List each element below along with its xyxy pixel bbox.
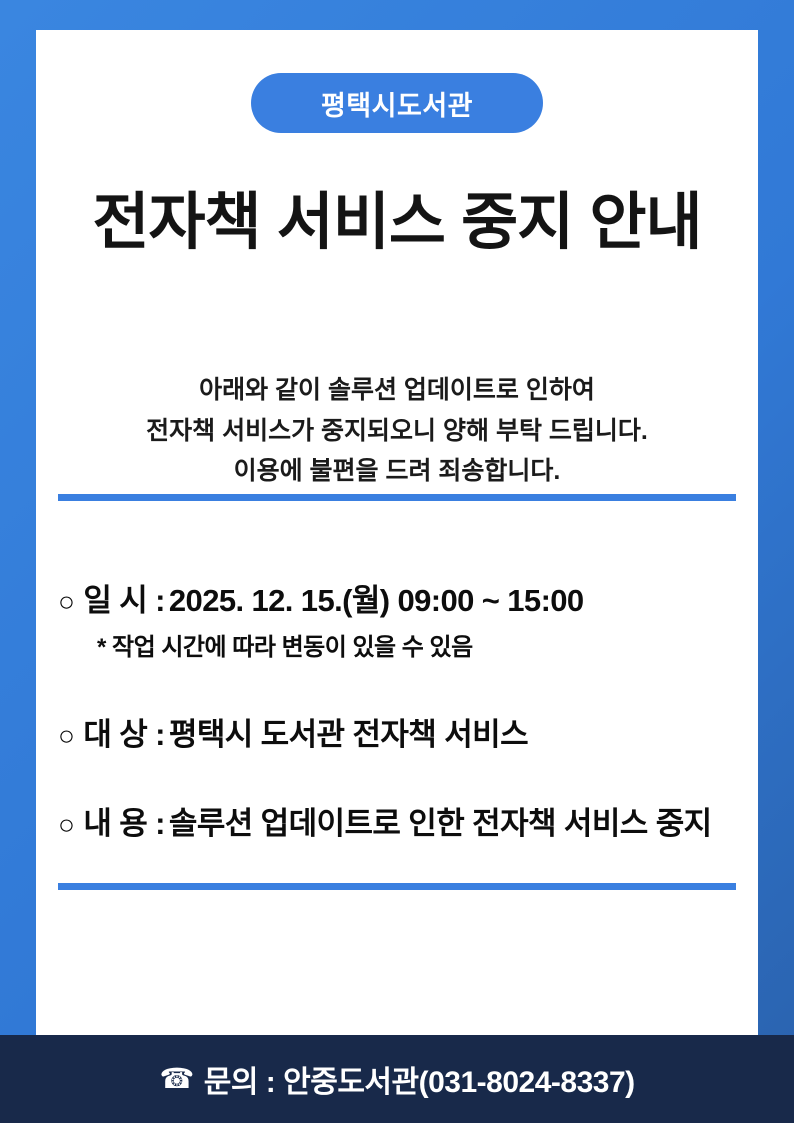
- details-list: ○ 일 시 : 2025. 12. 15.(월) 09:00 ~ 15:00 *…: [58, 575, 748, 843]
- detail-value: 솔루션 업데이트로 인한 전자책 서비스 중지: [169, 798, 712, 843]
- detail-note: * 작업 시간에 따라 변동이 있을 수 있음: [97, 627, 748, 662]
- detail-label: 대 상 :: [83, 709, 165, 754]
- badge-row: 평택시도서관: [36, 73, 758, 133]
- library-badge: 평택시도서관: [251, 73, 543, 133]
- bullet-icon: ○: [58, 722, 74, 750]
- detail-value: 평택시 도서관 전자책 서비스: [169, 709, 528, 754]
- intro-paragraph: 아래와 같이 솔루션 업데이트로 인하여 전자책 서비스가 중지되오니 양해 부…: [36, 370, 758, 492]
- intro-line-3: 이용에 불편을 드려 죄송합니다.: [36, 451, 758, 492]
- bullet-icon: ○: [58, 588, 74, 616]
- detail-item-content: ○ 내 용 : 솔루션 업데이트로 인한 전자책 서비스 중지: [58, 798, 748, 843]
- detail-item-target: ○ 대 상 : 평택시 도서관 전자책 서비스: [58, 709, 748, 754]
- contact-footer: ☎ 문의 : 안중도서관(031-8024-8337): [0, 1035, 794, 1123]
- contact-text: 문의 : 안중도서관(031-8024-8337): [204, 1057, 635, 1101]
- bullet-icon: ○: [58, 811, 74, 839]
- contact-text-wrapper: ☎ 문의 : 안중도서관(031-8024-8337): [159, 1057, 634, 1101]
- detail-item-datetime: ○ 일 시 : 2025. 12. 15.(월) 09:00 ~ 15:00: [58, 575, 748, 620]
- detail-label: 내 용 :: [83, 798, 165, 843]
- spacer: [58, 754, 748, 798]
- notice-poster: 평택시도서관 전자책 서비스 중지 안내 아래와 같이 솔루션 업데이트로 인하…: [0, 0, 794, 1123]
- divider-top: [58, 494, 736, 501]
- telephone-icon: ☎: [159, 1065, 193, 1093]
- intro-line-1: 아래와 같이 솔루션 업데이트로 인하여: [36, 370, 758, 411]
- content-panel: 평택시도서관 전자책 서비스 중지 안내 아래와 같이 솔루션 업데이트로 인하…: [36, 30, 758, 1035]
- divider-bottom: [58, 883, 736, 890]
- detail-value: 2025. 12. 15.(월) 09:00 ~ 15:00: [169, 575, 584, 620]
- detail-label: 일 시 :: [83, 575, 165, 620]
- page-title: 전자책 서비스 중지 안내: [36, 187, 758, 258]
- intro-line-2: 전자책 서비스가 중지되오니 양해 부탁 드립니다.: [36, 411, 758, 452]
- spacer: [58, 662, 748, 709]
